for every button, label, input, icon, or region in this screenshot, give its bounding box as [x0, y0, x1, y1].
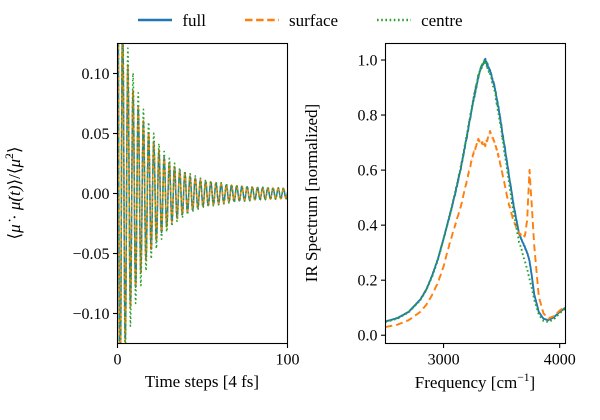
figure-canvas: full surface centre 0100−0.10−0.050.000.… [0, 0, 600, 420]
ir-ticks [381, 60, 560, 348]
legend-entry-centre: centre [376, 12, 463, 29]
ir-xtick-label: 4000 [544, 352, 576, 369]
ir-x-axis-label: Frequency [cm−1] [415, 371, 535, 393]
legend: full surface centre [0, 6, 600, 34]
acf-ytick-label: 0.00 [82, 186, 110, 203]
acf-ytick-label: −0.05 [72, 246, 109, 263]
ir-curves [386, 59, 566, 327]
ir-ytick-label: 1.0 [358, 53, 378, 70]
acf-ytick-label: 0.10 [82, 66, 110, 83]
acf-series-full [118, 0, 288, 420]
acf-y-axis-label: ⟨μ̇ · μ̇(t)⟩/⟨μ̇2⟩ [3, 147, 25, 240]
line-dashed-icon [244, 13, 280, 27]
legend-entry-full: full [137, 12, 206, 29]
legend-label-surface: surface [289, 12, 338, 29]
acf-xtick-label: 0 [114, 352, 122, 369]
plot-panels: 0100−0.10−0.050.000.050.10 300040000.00.… [0, 0, 600, 420]
line-solid-icon [137, 13, 173, 27]
acf-curves [118, 0, 288, 420]
line-dotted-icon [376, 13, 412, 27]
ir-ytick-label: 0.0 [358, 328, 378, 345]
ir-series-full [386, 59, 566, 322]
legend-label-centre: centre [421, 12, 463, 29]
ir-ytick-label: 0.4 [358, 218, 378, 235]
ir-y-axis-label: IR Spectrum [normalized] [302, 104, 322, 282]
acf-x-axis-label: Time steps [4 fs] [145, 372, 259, 392]
ir-ytick-label: 0.8 [358, 108, 378, 125]
panel-acf: 0100−0.10−0.050.000.050.10 [72, 0, 299, 420]
legend-label-full: full [182, 12, 206, 29]
acf-ytick-label: 0.05 [82, 126, 110, 143]
acf-tick-labels: 0100−0.10−0.050.000.050.10 [72, 66, 299, 369]
ir-series-surface [386, 131, 566, 327]
acf-series-centre [118, 0, 288, 420]
ir-ytick-label: 0.6 [358, 163, 378, 180]
acf-series-surface [118, 0, 288, 420]
ir-ytick-label: 0.2 [358, 273, 378, 290]
legend-entry-surface: surface [244, 12, 338, 29]
acf-xtick-label: 100 [276, 352, 300, 369]
acf-ytick-label: −0.10 [72, 306, 109, 323]
ir-xtick-label: 3000 [428, 352, 460, 369]
panel-ir: 300040000.00.20.40.60.81.0 [358, 44, 576, 369]
